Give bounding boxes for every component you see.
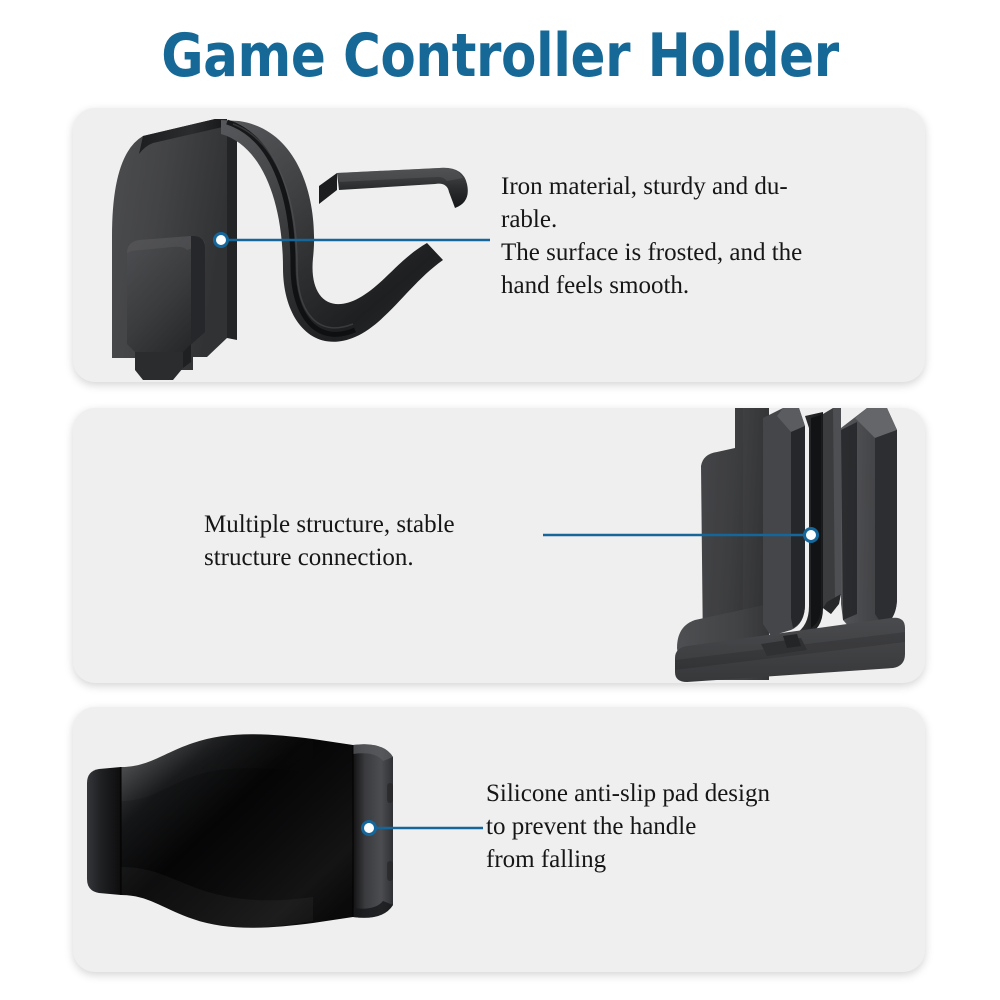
callout-leader-silicone-pad (0, 0, 1000, 1000)
callout-dot-inner (364, 823, 374, 833)
